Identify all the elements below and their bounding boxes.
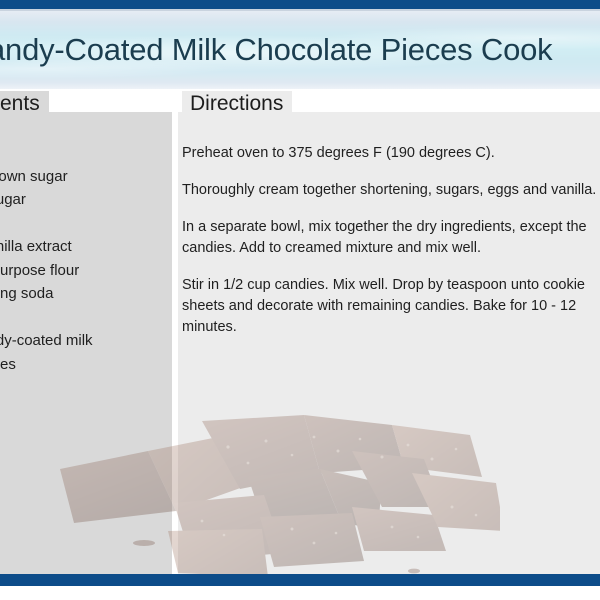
- ingredient-item: n salt: [0, 306, 190, 330]
- ingredient-item: tening: [0, 141, 190, 165]
- ingredient-item: ns vanilla extract: [0, 235, 190, 259]
- ingredient-item: [0, 212, 190, 236]
- bottom-accent-bar: [0, 574, 600, 586]
- ingredients-list: tening ted brown sugar hite sugar ns van…: [0, 141, 190, 376]
- ingredient-item: n baking soda: [0, 282, 190, 306]
- ingredient-item: s all-purpose flour: [0, 259, 190, 283]
- recipe-body: ents tening ted brown sugar hite sugar n…: [0, 89, 600, 574]
- direction-step: In a separate bowl, mix together the dry…: [182, 217, 600, 259]
- recipe-page: andy-Coated Milk Chocolate Pieces Cook e…: [0, 0, 600, 600]
- ingredients-heading: ents: [0, 91, 49, 117]
- top-accent-bar: [0, 0, 600, 9]
- directions-heading: Directions: [182, 91, 292, 117]
- direction-step: Stir in 1/2 cup candies. Mix well. Drop …: [182, 275, 600, 338]
- bottom-page-fill: [0, 586, 600, 600]
- directions-list: Preheat oven to 375 degrees F (190 degre…: [182, 143, 600, 338]
- direction-step: Thoroughly cream together shortening, su…: [182, 180, 600, 201]
- direction-step: Preheat oven to 375 degrees F (190 degre…: [182, 143, 600, 164]
- page-title: andy-Coated Milk Chocolate Pieces Cook: [0, 31, 600, 69]
- ingredient-item: e pieces: [0, 353, 190, 377]
- ingredient-item: s candy-coated milk: [0, 329, 190, 353]
- ingredient-item: ted brown sugar: [0, 165, 190, 189]
- page-header-banner: andy-Coated Milk Chocolate Pieces Cook: [0, 11, 600, 89]
- ingredient-item: hite sugar: [0, 188, 190, 212]
